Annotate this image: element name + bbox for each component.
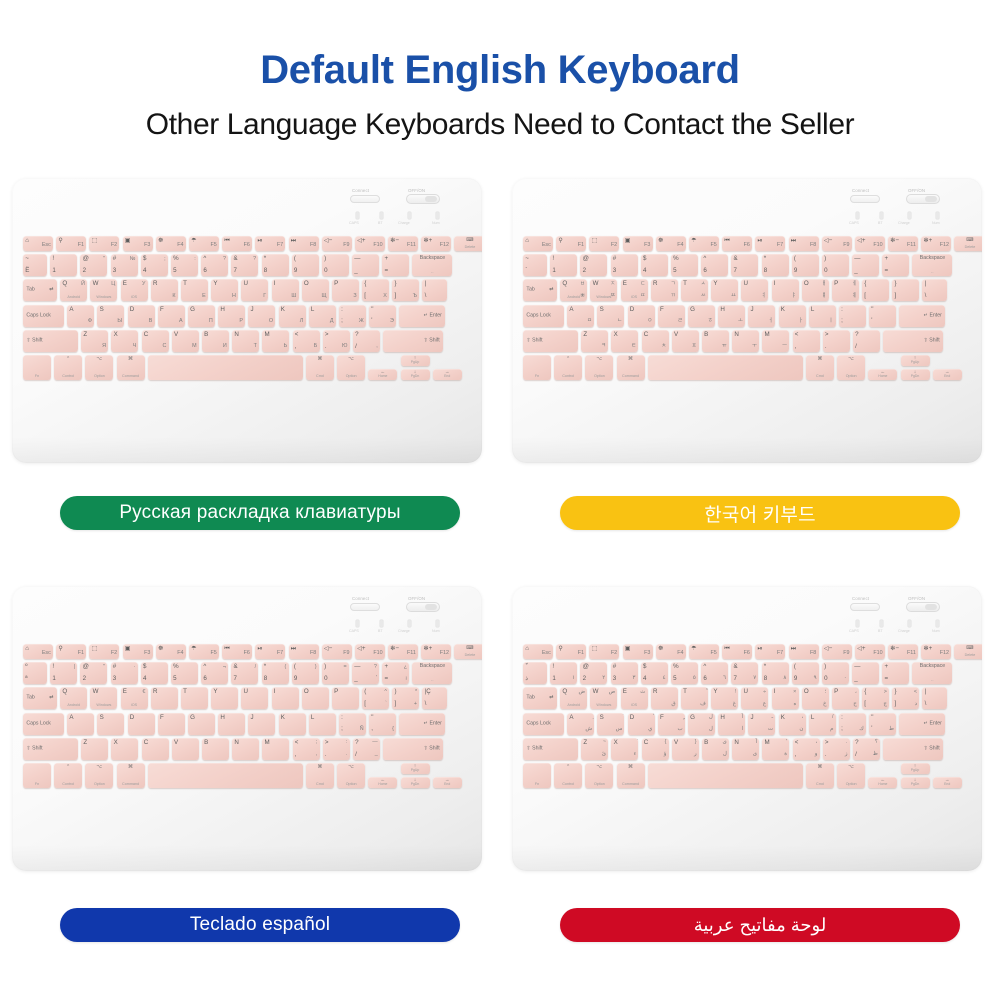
key-[interactable]: ◁+F10 xyxy=(355,644,385,659)
key-u[interactable]: UГ xyxy=(241,279,268,301)
key-g[interactable]: Gلل xyxy=(688,713,715,735)
key-h[interactable]: H xyxy=(218,713,245,735)
key-s[interactable]: Sㄴ xyxy=(597,305,624,327)
key-[interactable]: —_ xyxy=(852,662,879,684)
key-[interactable]: >.Ю xyxy=(323,330,350,352)
key-[interactable]: ?/؟ظ xyxy=(853,738,880,760)
key-[interactable]: %5 xyxy=(171,662,198,684)
key-[interactable]: ⌘Command xyxy=(617,763,645,788)
key-e[interactable]: EУiOS xyxy=(121,279,148,301)
key-shift[interactable]: ⇧ Shift xyxy=(523,738,578,760)
key-[interactable]: += xyxy=(882,254,909,276)
key-[interactable]: ☂F5 xyxy=(189,236,219,251)
key-o[interactable]: Oㅐㅒ xyxy=(802,279,829,301)
key-[interactable]: ⌥Option xyxy=(337,355,365,380)
key-[interactable]: ⌘Cmd xyxy=(306,355,334,380)
key-a[interactable]: AФ xyxy=(67,305,94,327)
key-f[interactable]: FА xyxy=(158,305,185,327)
key-[interactable]: ([^` xyxy=(362,687,389,709)
key-space[interactable] xyxy=(648,355,803,380)
key-[interactable]: %5 xyxy=(671,254,698,276)
key-n[interactable]: Nㅜ xyxy=(732,330,759,352)
key-[interactable]: $4; xyxy=(141,254,168,276)
key-g[interactable]: Gㅎ xyxy=(688,305,715,327)
key-enter[interactable]: ↵ Enter xyxy=(899,305,945,327)
key-enter[interactable]: ↵ Enter xyxy=(399,305,445,327)
key-[interactable]: ⌨Delete xyxy=(454,236,482,251)
key-arrow-left[interactable]: ←Home xyxy=(368,369,397,380)
key-arrow-up[interactable]: ↑PgUp xyxy=(901,763,930,774)
key-[interactable]: ",{ xyxy=(369,713,396,735)
key-[interactable]: ▣F3 xyxy=(123,644,153,659)
key-arrow-left[interactable]: ←Home xyxy=(868,777,897,788)
key-[interactable]: ⌘Command xyxy=(617,355,645,380)
power-switch[interactable] xyxy=(906,602,940,612)
power-switch[interactable] xyxy=(906,194,940,204)
key-[interactable]: ☸F4 xyxy=(656,236,686,251)
key-[interactable]: ◁+F10 xyxy=(355,236,385,251)
key-b[interactable]: B xyxy=(202,738,229,760)
key-[interactable]: ◁−F9 xyxy=(822,644,852,659)
key-[interactable]: "'ط xyxy=(869,713,896,735)
key-m[interactable]: M xyxy=(262,738,289,760)
key-k[interactable]: KЛ xyxy=(279,305,306,327)
key-[interactable]: ⌨Delete xyxy=(954,644,982,659)
key-arrow-left[interactable]: ←Home xyxy=(868,369,897,380)
key-f[interactable]: Fㄹ xyxy=(658,305,685,327)
key-space[interactable] xyxy=(648,763,803,788)
key-[interactable]: <,،و xyxy=(793,738,820,760)
key-u[interactable]: U÷ع xyxy=(741,687,768,709)
key-a[interactable]: Aِش xyxy=(567,713,594,735)
key-[interactable]: &7 xyxy=(731,254,758,276)
key-[interactable]: )0 xyxy=(322,254,349,276)
key-[interactable]: ⬚F2 xyxy=(89,236,119,251)
key-t[interactable]: Tㅅㅆ xyxy=(681,279,708,301)
key-l[interactable]: L/م xyxy=(809,713,836,735)
key-f[interactable]: F xyxy=(158,713,185,735)
key-[interactable]: ⏯F7 xyxy=(255,644,285,659)
key-backspace[interactable]: Backspace← xyxy=(912,254,952,276)
key-arrow-down[interactable]: ↓PgDn xyxy=(901,369,930,380)
key-[interactable]: ◁−F9 xyxy=(822,236,852,251)
key-arrow-right[interactable]: →End xyxy=(433,369,462,380)
key-v[interactable]: V}ر xyxy=(672,738,699,760)
key-[interactable]: ~Ё xyxy=(23,254,47,276)
key-k[interactable]: Kㅏ xyxy=(779,305,806,327)
key-y[interactable]: Y!غ xyxy=(711,687,738,709)
key-[interactable]: <,Б xyxy=(293,330,320,352)
key-[interactable]: ⏯F7 xyxy=(755,236,785,251)
key-[interactable]: ☸F4 xyxy=(156,236,186,251)
key-i[interactable]: I×ه xyxy=(772,687,799,709)
key-d[interactable]: DВ xyxy=(128,305,155,327)
key-[interactable]: ~` xyxy=(523,254,547,276)
key-arrow-right[interactable]: →End xyxy=(433,777,462,788)
key-[interactable]: ⚲F1 xyxy=(56,236,86,251)
key-[interactable]: ⌘Command xyxy=(117,763,145,788)
key-[interactable]: {[>ج xyxy=(862,687,889,709)
key-b[interactable]: Bㅠ xyxy=(702,330,729,352)
key-[interactable]: "' xyxy=(869,305,896,327)
key-t[interactable]: T xyxy=(181,687,208,709)
key-i[interactable]: Iㅑ xyxy=(772,279,799,301)
key-x[interactable]: X xyxy=(111,738,138,760)
key-arrow-down[interactable]: ↓PgDn xyxy=(401,369,430,380)
key-[interactable]: ^6 xyxy=(701,254,728,276)
key-[interactable]: <,;, xyxy=(293,738,320,760)
key-x[interactable]: Xㅌ xyxy=(611,330,638,352)
key-w[interactable]: WصWindows xyxy=(590,687,617,709)
key-[interactable]: ☸F4 xyxy=(156,644,186,659)
key-[interactable]: ⚲F1 xyxy=(556,644,586,659)
key-arrow-down[interactable]: ↓PgDn xyxy=(401,777,430,788)
key-[interactable]: #3№ xyxy=(111,254,138,276)
connect-button[interactable] xyxy=(350,603,380,611)
key-[interactable]: ⏮F6 xyxy=(222,236,252,251)
key-[interactable]: ⌘Cmd xyxy=(806,763,834,788)
key-arrow-down[interactable]: ↓PgDn xyxy=(901,777,930,788)
key-d[interactable]: D xyxy=(128,713,155,735)
key-y[interactable]: YН xyxy=(211,279,238,301)
key-r[interactable]: Rق xyxy=(651,687,678,709)
key-[interactable]: ⏮F6 xyxy=(722,236,752,251)
key-e[interactable]: E€iOS xyxy=(121,687,148,709)
key-[interactable]: |\ xyxy=(922,687,947,709)
key-[interactable]: ⌃Control xyxy=(54,763,82,788)
key-x[interactable]: Xٔء xyxy=(611,738,638,760)
key-p[interactable]: P،ح xyxy=(832,687,859,709)
key-[interactable]: ✻−F11 xyxy=(888,644,918,659)
key-[interactable]: +=¿¡ xyxy=(382,662,409,684)
key-[interactable]: ▣F3 xyxy=(623,644,653,659)
key-[interactable]: ⚲F1 xyxy=(56,644,86,659)
key-tab[interactable]: Tab⇄ xyxy=(523,279,557,301)
key-[interactable]: ☸F4 xyxy=(656,644,686,659)
key-n[interactable]: Nآى xyxy=(732,738,759,760)
key-[interactable]: += xyxy=(882,662,909,684)
key-[interactable]: |Ç\ xyxy=(422,687,447,709)
key-fn[interactable]: Fn xyxy=(23,355,51,380)
key-[interactable]: ºª xyxy=(23,662,47,684)
key-[interactable]: ⌥Option xyxy=(85,763,113,788)
key-r[interactable]: R xyxy=(151,687,178,709)
key-l[interactable]: Lㅣ xyxy=(809,305,836,327)
key-[interactable]: ⌥Option xyxy=(837,763,865,788)
key-[interactable]: ⬚F2 xyxy=(589,236,619,251)
key-[interactable]: ✻+F12 xyxy=(421,644,451,659)
key-enter[interactable]: ↵ Enter xyxy=(899,713,945,735)
key-u[interactable]: U xyxy=(241,687,268,709)
connect-button[interactable] xyxy=(350,195,380,203)
key-[interactable]: *8 xyxy=(762,254,789,276)
key-[interactable]: |\ xyxy=(422,279,447,301)
key-y[interactable]: Y xyxy=(211,687,238,709)
key-[interactable]: ◁+F10 xyxy=(855,236,885,251)
key-[interactable]: ✻+F12 xyxy=(921,236,951,251)
key-[interactable]: ?/—_ xyxy=(353,738,380,760)
key-[interactable]: )0 xyxy=(822,254,849,276)
key-z[interactable]: Z~ئ xyxy=(581,738,608,760)
key-[interactable]: >. xyxy=(823,330,850,352)
key-shift[interactable]: ⇧ Shift xyxy=(883,330,943,352)
key-[interactable]: ^6¬ xyxy=(201,662,228,684)
key-d[interactable]: Dㅇ xyxy=(628,305,655,327)
key-[interactable]: ⌥Option xyxy=(585,355,613,380)
key-x[interactable]: XЧ xyxy=(111,330,138,352)
key-c[interactable]: Cㅊ xyxy=(642,330,669,352)
key-s[interactable]: SЫ xyxy=(97,305,124,327)
key-[interactable]: ◁−F9 xyxy=(322,236,352,251)
key-[interactable]: ✻+F12 xyxy=(421,236,451,251)
key-[interactable]: ⌘Cmd xyxy=(306,763,334,788)
key-m[interactable]: M'ة xyxy=(762,738,789,760)
key-[interactable]: ⌥Option xyxy=(585,763,613,788)
key-y[interactable]: Yㅛ xyxy=(711,279,738,301)
key-q[interactable]: QAndroid xyxy=(60,687,87,709)
key-[interactable]: ⏯F7 xyxy=(755,644,785,659)
key-[interactable]: @2٢ xyxy=(580,662,607,684)
key-fn[interactable]: Fn xyxy=(23,763,51,788)
key-[interactable]: ⌥Option xyxy=(837,355,865,380)
key-caps-lock[interactable]: Caps Lock xyxy=(523,713,564,735)
key-r[interactable]: Rㄱㄲ xyxy=(651,279,678,301)
key-k[interactable]: K،ن xyxy=(779,713,806,735)
key-[interactable]: ⌥Option xyxy=(85,355,113,380)
key-[interactable]: ⏮F6 xyxy=(222,644,252,659)
key-w[interactable]: WㅈㅉWindows xyxy=(590,279,617,301)
key-v[interactable]: VМ xyxy=(172,330,199,352)
key-arrow-right[interactable]: →End xyxy=(933,777,962,788)
key-c[interactable]: C{ؤ xyxy=(642,738,669,760)
key-e[interactable]: EثiOS xyxy=(621,687,648,709)
key-backspace[interactable]: Backspace← xyxy=(412,662,452,684)
key-tab[interactable]: Tab⇄ xyxy=(23,687,57,709)
key-caps-lock[interactable]: Caps Lock xyxy=(523,305,564,327)
key-[interactable]: "'Э xyxy=(369,305,396,327)
key-[interactable]: ◁+F10 xyxy=(855,644,885,659)
key-[interactable]: ⬚F2 xyxy=(589,644,619,659)
key-arrow-left[interactable]: ←Home xyxy=(368,777,397,788)
key-[interactable]: ☂F5 xyxy=(689,236,719,251)
key-c[interactable]: CС xyxy=(142,330,169,352)
key-[interactable]: ⬚F2 xyxy=(89,644,119,659)
key-[interactable]: ☂F5 xyxy=(689,644,719,659)
key-[interactable]: !1 xyxy=(50,254,77,276)
key-d[interactable]: Dٌي xyxy=(628,713,655,735)
key-caps-lock[interactable]: Caps Lock xyxy=(23,305,64,327)
key-[interactable]: >..ز xyxy=(823,738,850,760)
key-[interactable]: $4٤ xyxy=(641,662,668,684)
key-[interactable]: :;Ж xyxy=(339,305,366,327)
key-arrow-right[interactable]: →End xyxy=(933,369,962,380)
key-n[interactable]: N xyxy=(232,738,259,760)
connect-button[interactable] xyxy=(850,603,880,611)
key-arrow-up[interactable]: ↑PgUp xyxy=(901,355,930,366)
key-[interactable]: :;ك xyxy=(839,713,866,735)
key-[interactable]: (9 xyxy=(792,254,819,276)
key-[interactable]: ?/, xyxy=(353,330,380,352)
key-p[interactable]: P xyxy=(332,687,359,709)
key-backspace[interactable]: Backspace← xyxy=(412,254,452,276)
key-[interactable]: !1١ xyxy=(550,662,577,684)
key-w[interactable]: WЦWindows xyxy=(90,279,117,301)
key-[interactable]: &7? xyxy=(231,254,258,276)
key-[interactable]: ^6? xyxy=(201,254,228,276)
key-[interactable]: *8٨ xyxy=(762,662,789,684)
key-t[interactable]: Tْف xyxy=(681,687,708,709)
connect-button[interactable] xyxy=(850,195,880,203)
key-[interactable]: @2" xyxy=(80,662,107,684)
key-[interactable]: ☂F5 xyxy=(189,644,219,659)
key-enter[interactable]: ↵ Enter xyxy=(399,713,445,735)
key-b[interactable]: BИ xyxy=(202,330,229,352)
key-[interactable]: += xyxy=(382,254,409,276)
key-z[interactable]: ZЯ xyxy=(81,330,108,352)
key-[interactable]: $4 xyxy=(641,254,668,276)
key-h[interactable]: Hأا xyxy=(718,713,745,735)
key-v[interactable]: V xyxy=(172,738,199,760)
key-[interactable]: {[ xyxy=(862,279,889,301)
key-[interactable]: :;Ñ xyxy=(339,713,366,735)
key-shift[interactable]: ⇧ Shift xyxy=(883,738,943,760)
key-[interactable]: $4 xyxy=(141,662,168,684)
key-e[interactable]: EㄷㄸiOS xyxy=(621,279,648,301)
key-fn[interactable]: Fn xyxy=(523,355,551,380)
key-[interactable]: ▣F3 xyxy=(623,236,653,251)
key-[interactable]: %5٥ xyxy=(671,662,698,684)
key-shift[interactable]: ⇧ Shift xyxy=(383,738,443,760)
key-v[interactable]: Vㅍ xyxy=(672,330,699,352)
key-p[interactable]: PЗ xyxy=(332,279,359,301)
key-[interactable]: &7/ xyxy=(231,662,258,684)
key-[interactable]: *8( xyxy=(262,662,289,684)
key-c[interactable]: C xyxy=(142,738,169,760)
key-[interactable]: ⌘Command xyxy=(117,355,145,380)
key-[interactable]: ⌂Esc xyxy=(23,644,53,659)
key-[interactable]: ?/ xyxy=(853,330,880,352)
key-p[interactable]: Pㅔㅖ xyxy=(832,279,859,301)
key-[interactable]: @2" xyxy=(80,254,107,276)
key-z[interactable]: Zㅋ xyxy=(581,330,608,352)
key-shift[interactable]: ⇧ Shift xyxy=(23,330,78,352)
key-[interactable]: ⌂Esc xyxy=(523,644,553,659)
key-a[interactable]: Aㅁ xyxy=(567,305,594,327)
key-[interactable]: (9) xyxy=(292,662,319,684)
key-[interactable]: >.:. xyxy=(323,738,350,760)
key-g[interactable]: GП xyxy=(188,305,215,327)
key-g[interactable]: G xyxy=(188,713,215,735)
key-[interactable]: ✻−F11 xyxy=(388,644,418,659)
key-shift[interactable]: ⇧ Shift xyxy=(383,330,443,352)
key-[interactable]: )]*+ xyxy=(392,687,419,709)
key-h[interactable]: HР xyxy=(218,305,245,327)
key-t[interactable]: TЕ xyxy=(181,279,208,301)
power-switch[interactable] xyxy=(406,602,440,612)
key-[interactable]: }]Ъ xyxy=(392,279,419,301)
key-caps-lock[interactable]: Caps Lock xyxy=(23,713,64,735)
key-[interactable]: ⌨Delete xyxy=(954,236,982,251)
key-u[interactable]: Uㅕ xyxy=(741,279,768,301)
key-[interactable]: ✻+F12 xyxy=(921,644,951,659)
key-[interactable]: <, xyxy=(793,330,820,352)
key-i[interactable]: IШ xyxy=(272,279,299,301)
key-[interactable]: —_ xyxy=(852,254,879,276)
key-[interactable]: !1| xyxy=(50,662,77,684)
key-s[interactable]: Sُس xyxy=(597,713,624,735)
key-z[interactable]: Z xyxy=(81,738,108,760)
key-tab[interactable]: Tab⇄ xyxy=(23,279,57,301)
key-shift[interactable]: ⇧ Shift xyxy=(23,738,78,760)
key-[interactable]: ⏭F8 xyxy=(789,236,819,251)
key-[interactable]: &7٧ xyxy=(731,662,758,684)
key-o[interactable]: O؛خ xyxy=(802,687,829,709)
key-[interactable]: ⌥Option xyxy=(337,763,365,788)
key-fn[interactable]: Fn xyxy=(523,763,551,788)
key-[interactable]: ⏭F8 xyxy=(789,644,819,659)
key-[interactable]: ◁−F9 xyxy=(322,644,352,659)
key-[interactable]: ⌂Esc xyxy=(23,236,53,251)
key-[interactable]: ▣F3 xyxy=(123,236,153,251)
key-[interactable]: ⌘Cmd xyxy=(806,355,834,380)
key-b[interactable]: Bىل xyxy=(702,738,729,760)
key-l[interactable]: LД xyxy=(309,305,336,327)
key-tab[interactable]: Tab⇄ xyxy=(523,687,557,709)
key-backspace[interactable]: Backspace← xyxy=(912,662,952,684)
key-j[interactable]: J xyxy=(248,713,275,735)
key-[interactable]: (9 xyxy=(292,254,319,276)
key-[interactable]: }] xyxy=(892,279,919,301)
key-j[interactable]: Jㅓ xyxy=(748,305,775,327)
key-[interactable]: @2 xyxy=(580,254,607,276)
key-m[interactable]: MЬ xyxy=(262,330,289,352)
key-q[interactable]: QضAndroid xyxy=(560,687,587,709)
key-[interactable]: ✻−F11 xyxy=(888,236,918,251)
key-[interactable]: ✻−F11 xyxy=(388,236,418,251)
key-w[interactable]: WWindows xyxy=(90,687,117,709)
key-[interactable]: {[Х xyxy=(362,279,389,301)
key-o[interactable]: OЩ xyxy=(302,279,329,301)
key-[interactable]: ⏭F8 xyxy=(289,236,319,251)
key-[interactable]: ⌃Control xyxy=(554,355,582,380)
key-f[interactable]: Fٍب xyxy=(658,713,685,735)
key-[interactable]: )0= xyxy=(322,662,349,684)
key-[interactable]: |\ xyxy=(922,279,947,301)
key-q[interactable]: QЙAndroid xyxy=(60,279,87,301)
key-space[interactable] xyxy=(148,355,303,380)
key-[interactable]: #3٣ xyxy=(611,662,638,684)
key-o[interactable]: O xyxy=(302,687,329,709)
key-[interactable]: —_ xyxy=(352,254,379,276)
key-l[interactable]: L xyxy=(309,713,336,735)
key-[interactable]: ⏮F6 xyxy=(722,644,752,659)
key-k[interactable]: K xyxy=(279,713,306,735)
key-[interactable]: ⌨Delete xyxy=(454,644,482,659)
key-[interactable]: ّذ xyxy=(523,662,547,684)
key-[interactable]: #3 xyxy=(611,254,638,276)
key-[interactable]: ⚲F1 xyxy=(556,236,586,251)
key-[interactable]: %5: xyxy=(171,254,198,276)
key-[interactable]: ⌃Control xyxy=(54,355,82,380)
key-n[interactable]: NТ xyxy=(232,330,259,352)
power-switch[interactable] xyxy=(406,194,440,204)
key-[interactable]: —_?' xyxy=(352,662,379,684)
key-i[interactable]: I xyxy=(272,687,299,709)
key-arrow-up[interactable]: ↑PgUp xyxy=(401,763,430,774)
key-j[interactable]: JО xyxy=(248,305,275,327)
key-[interactable]: #3· xyxy=(111,662,138,684)
key-[interactable]: ⌃Control xyxy=(554,763,582,788)
